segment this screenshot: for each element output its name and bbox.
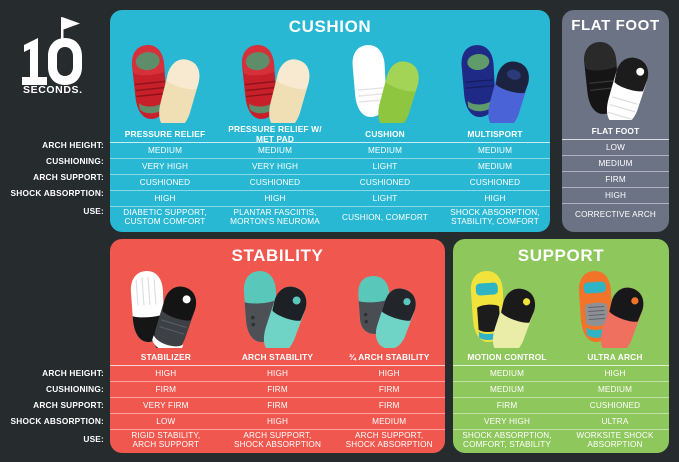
cell: CUSHIONED xyxy=(440,175,550,190)
stability-row-cushioning: FIRM FIRM FIRM xyxy=(110,381,445,397)
cell: VERY HIGH xyxy=(110,159,220,174)
panel-flat-foot: FLAT FOOT xyxy=(562,10,669,232)
support-row-shock-absorption: VERY HIGH ULTRA xyxy=(453,413,669,429)
cell: PLANTAR FASCIITIS,MORTON'S NEUROMA xyxy=(220,207,330,227)
flat-foot-row-use: CORRECTIVE ARCH xyxy=(562,203,669,224)
stability-row-arch-height: HIGH HIGH HIGH xyxy=(110,365,445,381)
cell: MEDIUM xyxy=(440,143,550,158)
stability-row-use: RIGID STABILITY,ARCH SUPPORT ARCH SUPPOR… xyxy=(110,429,445,450)
flat-foot-col-0: FLAT FOOT xyxy=(562,124,669,139)
support-col-0: MOTION CONTROL xyxy=(453,350,561,365)
cell: ARCH SUPPORT,SHOCK ABSORPTION xyxy=(333,430,445,450)
cell: FIRM xyxy=(110,382,222,397)
cushion-spec-table: PRESSURE RELIEF PRESSURE RELIEF W/ MET P… xyxy=(110,127,550,227)
cell: LOW xyxy=(110,414,222,429)
flat-foot-row-arch-height: LOW xyxy=(562,139,669,155)
row-label-column-bottom: ARCH HEIGHT: CUSHIONING: ARCH SUPPORT: S… xyxy=(0,365,104,455)
insole-red-tan-icon xyxy=(126,43,204,123)
cell: CUSHIONED xyxy=(330,175,440,190)
cell: CUSHION, COMFORT xyxy=(330,207,440,227)
cell: MEDIUM xyxy=(453,382,561,397)
cell: MEDIUM xyxy=(453,366,561,381)
insole-white-black-icon xyxy=(122,270,210,348)
support-insole-art xyxy=(453,268,669,350)
support-row-cushioning: MEDIUM MEDIUM xyxy=(453,381,669,397)
insole-orange-coral-icon xyxy=(570,270,660,348)
cell: FIRM xyxy=(222,398,334,413)
cell: HIGH xyxy=(222,414,334,429)
insole-teal-gray-icon xyxy=(233,270,321,348)
cell: CUSHIONED xyxy=(220,175,330,190)
cell: RIGID STABILITY,ARCH SUPPORT xyxy=(110,430,222,450)
cushion-col-1: PRESSURE RELIEF W/ MET PAD xyxy=(220,127,330,142)
support-row-arch-height: MEDIUM HIGH xyxy=(453,365,669,381)
cell: HIGH xyxy=(222,366,334,381)
panel-cushion: CUSHION xyxy=(110,10,550,232)
cell: DIABETIC SUPPORT,CUSTOM COMFORT xyxy=(110,207,220,227)
cushion-row-shock-absorption: HIGH HIGH LIGHT HIGH xyxy=(110,190,550,206)
flat-foot-row-arch-support: FIRM xyxy=(562,171,669,187)
panel-title-stability: STABILITY xyxy=(110,239,445,266)
svg-text:SECONDS.: SECONDS. xyxy=(23,84,83,94)
cell: SHOCK ABSORPTION,STABILITY, COMFORT xyxy=(440,207,550,227)
stability-col-1: ARCH STABILITY xyxy=(222,350,334,365)
cell: VERY HIGH xyxy=(220,159,330,174)
cell: VERY HIGH xyxy=(453,414,561,429)
cell: MEDIUM xyxy=(330,143,440,158)
stability-col-2: ¾ ARCH STABILITY xyxy=(333,350,445,365)
cushion-row-arch-height: MEDIUM MEDIUM MEDIUM MEDIUM xyxy=(110,142,550,158)
cushion-col-2: CUSHION xyxy=(330,127,440,142)
row-label-use-2: USE: xyxy=(83,434,104,444)
cell: FIRM xyxy=(222,382,334,397)
flat-foot-insole-art xyxy=(562,36,669,124)
row-label-arch-support-2: ARCH SUPPORT: xyxy=(33,400,104,410)
cell: VERY FIRM xyxy=(110,398,222,413)
stability-row-shock-absorption: LOW HIGH MEDIUM xyxy=(110,413,445,429)
panel-stability: STABILITY xyxy=(110,239,445,453)
row-label-shock-absorption: SHOCK ABSORPTION: xyxy=(11,188,104,198)
cell: FIRM xyxy=(562,172,669,187)
insole-blue-navy-icon xyxy=(456,43,534,123)
cell: ULTRA xyxy=(561,414,669,429)
cushion-row-arch-support: CUSHIONED CUSHIONED CUSHIONED CUSHIONED xyxy=(110,174,550,190)
row-label-arch-height: ARCH HEIGHT: xyxy=(42,140,104,150)
brand-logo: SECONDS. xyxy=(14,14,100,94)
cell: MEDIUM xyxy=(333,414,445,429)
support-spec-table: MOTION CONTROL ULTRA ARCH MEDIUM HIGH ME… xyxy=(453,350,669,450)
row-label-arch-height-2: ARCH HEIGHT: xyxy=(42,368,104,378)
support-column-headers: MOTION CONTROL ULTRA ARCH xyxy=(453,350,669,365)
flat-foot-column-headers: FLAT FOOT xyxy=(562,124,669,139)
cell: HIGH xyxy=(110,366,222,381)
insole-white-green-icon xyxy=(346,43,424,123)
cushion-col-3: MULTISPORT xyxy=(440,127,550,142)
cushion-insole-art xyxy=(110,39,550,127)
insole-yellow-teal-icon xyxy=(462,270,552,348)
row-label-arch-support: ARCH SUPPORT: xyxy=(33,172,104,182)
insole-black-white-icon xyxy=(576,40,656,120)
support-row-use: SHOCK ABSORPTION,COMFORT, STABILITY WORK… xyxy=(453,429,669,450)
row-label-use: USE: xyxy=(83,206,104,216)
cell: HIGH xyxy=(110,191,220,206)
support-row-arch-support: FIRM CUSHIONED xyxy=(453,397,669,413)
cell: FIRM xyxy=(453,398,561,413)
stability-col-0: STABILIZER xyxy=(110,350,222,365)
support-col-1: ULTRA ARCH xyxy=(561,350,669,365)
cushion-col-0: PRESSURE RELIEF xyxy=(110,127,220,142)
cell: CUSHIONED xyxy=(561,398,669,413)
cushion-row-cushioning: VERY HIGH VERY HIGH LIGHT MEDIUM xyxy=(110,158,550,174)
cell: HIGH xyxy=(333,366,445,381)
cell: MEDIUM xyxy=(440,159,550,174)
stability-row-arch-support: VERY FIRM FIRM FIRM xyxy=(110,397,445,413)
insole-teal-dark-icon xyxy=(345,270,433,348)
cell: WORKSITE SHOCKABSORPTION xyxy=(561,430,669,450)
insole-red-tan-metpad-icon xyxy=(236,43,314,123)
cell: ARCH SUPPORT,SHOCK ABSORPTION xyxy=(222,430,334,450)
cell: MEDIUM xyxy=(562,156,669,171)
ten-seconds-logo-icon: SECONDS. xyxy=(14,14,100,94)
row-label-column-top: ARCH HEIGHT: CUSHIONING: ARCH SUPPORT: S… xyxy=(0,136,104,226)
flat-foot-row-shock-absorption: HIGH xyxy=(562,187,669,203)
row-label-cushioning: CUSHIONING: xyxy=(46,156,104,166)
cell: MEDIUM xyxy=(220,143,330,158)
panel-support: SUPPORT xyxy=(453,239,669,453)
cell: FIRM xyxy=(333,398,445,413)
panel-title-flat-foot: FLAT FOOT xyxy=(562,10,669,34)
flat-foot-row-cushioning: MEDIUM xyxy=(562,155,669,171)
cell: LOW xyxy=(562,140,669,155)
stability-column-headers: STABILIZER ARCH STABILITY ¾ ARCH STABILI… xyxy=(110,350,445,365)
panel-title-support: SUPPORT xyxy=(453,239,669,266)
cell: CORRECTIVE ARCH xyxy=(562,204,669,224)
cell: HIGH xyxy=(220,191,330,206)
cell: SHOCK ABSORPTION,COMFORT, STABILITY xyxy=(453,430,561,450)
cushion-row-use: DIABETIC SUPPORT,CUSTOM COMFORT PLANTAR … xyxy=(110,206,550,227)
stability-spec-table: STABILIZER ARCH STABILITY ¾ ARCH STABILI… xyxy=(110,350,445,450)
panel-title-cushion: CUSHION xyxy=(110,10,550,37)
cell: LIGHT xyxy=(330,191,440,206)
cell: HIGH xyxy=(562,188,669,203)
cell: LIGHT xyxy=(330,159,440,174)
cell: MEDIUM xyxy=(110,143,220,158)
cushion-column-headers: PRESSURE RELIEF PRESSURE RELIEF W/ MET P… xyxy=(110,127,550,142)
cell: HIGH xyxy=(440,191,550,206)
cell: HIGH xyxy=(561,366,669,381)
cell: MEDIUM xyxy=(561,382,669,397)
cell: FIRM xyxy=(333,382,445,397)
stability-insole-art xyxy=(110,268,445,350)
flat-foot-spec-table: FLAT FOOT LOW MEDIUM FIRM HIGH CORRECTIV… xyxy=(562,124,669,224)
infographic-root: SECONDS. ARCH HEIGHT: CUSHIONING: ARCH S… xyxy=(0,0,679,462)
cell: CUSHIONED xyxy=(110,175,220,190)
row-label-cushioning-2: CUSHIONING: xyxy=(46,384,104,394)
row-label-shock-absorption-2: SHOCK ABSORPTION: xyxy=(11,416,104,426)
